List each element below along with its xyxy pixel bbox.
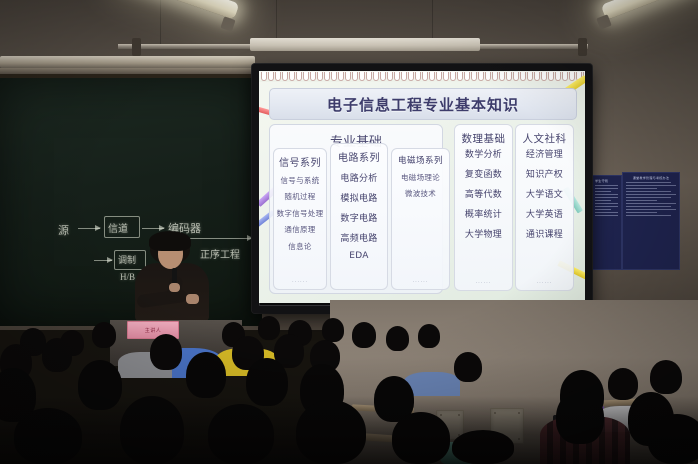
spiral-ring: [408, 72, 414, 81]
column-item: 电磁场理论: [401, 172, 440, 183]
poster-title: 课堂教学管理与考核办法: [626, 176, 676, 180]
poster-text-line: [626, 203, 676, 204]
poster-text-line: [595, 185, 618, 186]
poster-text-line: [595, 194, 618, 195]
spiral-ring: [317, 72, 323, 81]
column-math-basics: 数理基础 数学分析 复变函数 高等代数 概率统计 大学物理 ······: [454, 124, 513, 291]
spiral-ring: [296, 72, 302, 81]
spiral-ring: [506, 72, 512, 81]
spiral-ring: [387, 72, 393, 81]
audience-head-foreground: [296, 400, 366, 464]
column-header: 信号系列: [279, 154, 321, 169]
column-header: 电路系列: [338, 149, 380, 164]
poster-text-line: [626, 206, 671, 207]
audience-head: [322, 318, 344, 342]
spiral-ring: [562, 72, 568, 81]
column-item: 数学分析: [465, 147, 502, 160]
presenter-hand: [169, 283, 180, 292]
spiral-ring: [282, 72, 288, 81]
chalk-arrow: [142, 228, 164, 229]
poster-text-line: [595, 209, 611, 210]
audience-head: [454, 352, 482, 382]
name-card-text: 主讲人: [145, 327, 162, 334]
spiral-ring: [359, 72, 365, 81]
presenter-hair-top: [149, 231, 191, 251]
spiral-ring: [555, 72, 561, 81]
spiral-ring: [345, 72, 351, 81]
column-footer-marks: ······: [476, 280, 492, 286]
poster-text-line: [626, 194, 676, 195]
spiral-ring: [478, 72, 484, 81]
spiral-ring: [541, 72, 547, 81]
column-item: 大学物理: [465, 227, 502, 240]
column-circuits: 电路系列 电路分析 模拟电路 数字电路 高频电路 EDA: [330, 143, 388, 290]
spiral-ring: [457, 72, 463, 81]
spiral-ring: [331, 72, 337, 81]
spiral-ring: [548, 72, 554, 81]
lecture-hall-photo: 源 信道 编码器 正序工程 调制 H/B 学生守则 课堂教学管理与考核办法: [0, 0, 698, 464]
poster-text-line: [626, 215, 671, 216]
audience-head: [556, 390, 604, 444]
wall-poster-left: 学生守则: [591, 175, 622, 270]
spiral-ring: [394, 72, 400, 81]
column-item: 概率统计: [465, 207, 502, 220]
audience-head: [78, 360, 122, 410]
poster-text-line: [595, 191, 611, 192]
spiral-ring: [310, 72, 316, 81]
audience-head-foreground: [208, 404, 274, 464]
column-item: 通信原理: [284, 224, 315, 235]
poster-text-line: [626, 209, 676, 210]
chalk-ledge: [0, 56, 255, 68]
poster-text-line: [626, 182, 671, 183]
column-item: 信息论: [288, 241, 311, 252]
spiral-ring: [373, 72, 379, 81]
wall-seam: [160, 0, 161, 46]
column-item: 信号与系统: [281, 175, 320, 186]
spiral-ring: [485, 72, 491, 81]
column-item: 电路分析: [340, 171, 377, 184]
chalk-note: H/B: [120, 272, 135, 282]
audience-head: [608, 368, 638, 400]
chalk-note: 源: [58, 222, 69, 238]
column-item: 微波技术: [405, 188, 436, 199]
spiral-ring: [352, 72, 358, 81]
column-item: 大学英语: [526, 207, 563, 220]
column-item: 高等代数: [465, 187, 502, 200]
audience-head-foreground: [14, 408, 82, 464]
column-item: 复变函数: [465, 167, 502, 180]
audience-head: [258, 316, 280, 340]
chalk-arrow: [94, 260, 112, 261]
audience-head: [386, 326, 409, 351]
spiral-ring: [303, 72, 309, 81]
audience-head: [92, 322, 116, 348]
poster-text-line: [595, 188, 618, 189]
poster-text-line: [626, 197, 671, 198]
column-item: 知识产权: [526, 167, 563, 180]
chalk-note: 调制: [118, 253, 136, 266]
poster-text-line: [626, 185, 676, 186]
audience-head: [150, 334, 182, 370]
spiral-ring: [261, 72, 267, 81]
slide-title: 电子信息工程专业基本知识: [327, 94, 519, 115]
column-footer-marks: ······: [537, 280, 553, 286]
column-item: 大学语文: [526, 187, 563, 200]
spiral-ring: [499, 72, 505, 81]
column-electromagnetic-field: 电磁场系列 电磁场理论 微波技术 ······: [391, 148, 450, 290]
spiral-ring: [443, 72, 449, 81]
audience-head: [186, 352, 226, 398]
spiral-ring: [275, 72, 281, 81]
spiral-ring: [527, 72, 533, 81]
poster-text-line: [595, 212, 618, 213]
chalk-note: 信道: [108, 220, 128, 235]
column-item: 经济管理: [526, 147, 563, 160]
column-item: 通识课程: [526, 227, 563, 240]
presentation-slide: 电子信息工程专业基本知识 专业基础 信号系列 信号与系统 随机过程 数字信号处理…: [259, 71, 585, 303]
audience-head-foreground: [648, 414, 698, 464]
projection-screen-housing: [250, 38, 480, 51]
poster-text-line: [595, 200, 611, 201]
poster-text-line: [595, 206, 618, 207]
spiral-ring: [471, 72, 477, 81]
column-item: 随机过程: [284, 191, 315, 202]
spiral-ring: [268, 72, 274, 81]
column-signals: 信号系列 信号与系统 随机过程 数字信号处理 通信原理 信息论 ······: [273, 148, 327, 290]
spiral-ring: [380, 72, 386, 81]
column-footer-marks: ······: [292, 279, 308, 285]
spiral-ring: [464, 72, 470, 81]
column-item: EDA: [349, 251, 369, 261]
poster-text-line: [626, 188, 657, 189]
audience-head-foreground: [120, 396, 184, 464]
spiral-ring: [324, 72, 330, 81]
spiral-ring: [289, 72, 295, 81]
spiral-ring: [429, 72, 435, 81]
column-item: 数字信号处理: [277, 208, 324, 219]
spiral-ring: [338, 72, 344, 81]
slide-title-box: 电子信息工程专业基本知识: [269, 88, 577, 120]
audience-head: [418, 324, 440, 348]
audience-head-foreground: [452, 430, 514, 464]
rail-bracket: [578, 38, 587, 56]
spiral-ring: [569, 72, 575, 81]
audience-head: [42, 338, 72, 372]
poster-text-line: [595, 203, 618, 204]
spiral-ring: [436, 72, 442, 81]
column-footer-marks: ······: [413, 279, 429, 285]
spiral-ring: [366, 72, 372, 81]
audience-head: [352, 322, 376, 348]
wall-poster-right: 课堂教学管理与考核办法: [622, 172, 680, 270]
column-header: 数理基础: [462, 131, 506, 146]
column-item: 数字电路: [340, 211, 377, 224]
chalkboard: 源 信道 编码器 正序工程 调制 H/B: [0, 74, 262, 326]
rail-bracket: [132, 38, 141, 56]
column-item: 模拟电路: [340, 191, 377, 204]
audience-head: [650, 360, 682, 394]
spiral-ring: [513, 72, 519, 81]
audience-head-foreground: [392, 412, 450, 464]
spiral-binding: [259, 71, 585, 82]
chalk-note: 正序工程: [200, 246, 240, 261]
spiral-ring: [422, 72, 428, 81]
poster-title: 学生守则: [595, 179, 618, 183]
column-header: 电磁场系列: [398, 154, 443, 166]
poster-text-line: [626, 200, 657, 201]
chalk-arrow: [78, 228, 100, 229]
spiral-ring: [401, 72, 407, 81]
spiral-ring: [534, 72, 540, 81]
presenter-hand: [186, 294, 199, 304]
poster-text-line: [626, 212, 657, 213]
spiral-ring: [520, 72, 526, 81]
poster-text-line: [595, 197, 618, 198]
column-header: 人文社科: [523, 131, 567, 146]
poster-text-line: [626, 191, 671, 192]
spiral-ring: [415, 72, 421, 81]
poster-text-line: [595, 215, 618, 216]
spiral-ring: [450, 72, 456, 81]
column-item: 高频电路: [340, 231, 377, 244]
column-humanities: 人文社科 经济管理 知识产权 大学语文 大学英语 通识课程 ······: [515, 124, 574, 291]
spiral-ring: [492, 72, 498, 81]
audience-head: [246, 358, 288, 406]
